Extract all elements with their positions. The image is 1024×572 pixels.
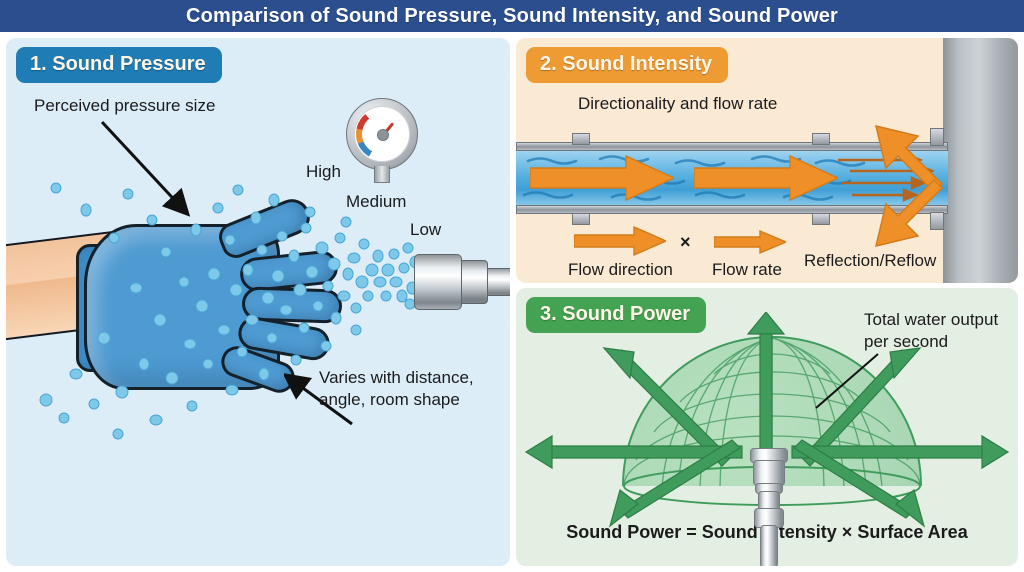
panel-heading-sound-pressure: 1. Sound Pressure bbox=[16, 47, 222, 83]
page-title: Comparison of Sound Pressure, Sound Inte… bbox=[186, 5, 838, 28]
legend-flow-direction-arrow-icon bbox=[574, 226, 666, 256]
callout-varies-line1: Varies with distance, bbox=[319, 368, 474, 388]
sprinkler-icon bbox=[748, 448, 788, 566]
pipe-flange bbox=[812, 213, 830, 225]
flow-arrow-icon bbox=[530, 154, 674, 202]
panel-heading-sound-intensity: 2. Sound Intensity bbox=[526, 47, 728, 83]
flow-arrow-icon bbox=[694, 154, 838, 202]
pipe-flange bbox=[572, 133, 590, 145]
legend-flow-rate-arrow-icon bbox=[714, 230, 786, 254]
callout-leader-line-icon bbox=[812, 350, 882, 412]
callout-perceived-pressure-size: Perceived pressure size bbox=[34, 96, 215, 116]
callout-varies-line2: angle, room shape bbox=[319, 390, 460, 410]
legend-label-flow-direction: Flow direction bbox=[568, 260, 673, 280]
legend-label-flow-rate: Flow rate bbox=[712, 260, 782, 280]
reflection-arrow-icon bbox=[846, 96, 956, 276]
legend-multiply-operator: × bbox=[680, 232, 691, 253]
panel-sound-pressure: 1. Sound Pressure Perceived pressure siz… bbox=[6, 38, 510, 566]
panel-heading-sound-power: 3. Sound Power bbox=[526, 297, 706, 333]
gauge-label-low: Low bbox=[410, 220, 441, 240]
title-bar: Comparison of Sound Pressure, Sound Inte… bbox=[0, 0, 1024, 32]
callout-arrow-top-icon bbox=[96, 116, 216, 226]
callout-total-water-output-line1: Total water output bbox=[864, 310, 998, 330]
callout-total-water-output-line2: per second bbox=[864, 332, 948, 352]
panel-sound-power: 3. Sound Power Total water output per se… bbox=[516, 288, 1018, 566]
subtitle-directionality-flow-rate: Directionality and flow rate bbox=[578, 94, 777, 114]
label-reflection-reflow: Reflection/Reflow bbox=[804, 251, 936, 271]
pipe-flange bbox=[572, 213, 590, 225]
pressure-gauge-icon bbox=[346, 98, 420, 184]
pipe-flange bbox=[812, 133, 830, 145]
gauge-label-medium: Medium bbox=[346, 192, 406, 212]
panel-sound-intensity: 2. Sound Intensity Directionality and fl… bbox=[516, 38, 1018, 283]
infographic-root: Comparison of Sound Pressure, Sound Inte… bbox=[0, 0, 1024, 572]
spray-nozzle-icon bbox=[414, 250, 510, 312]
gauge-label-high: High bbox=[306, 162, 341, 182]
